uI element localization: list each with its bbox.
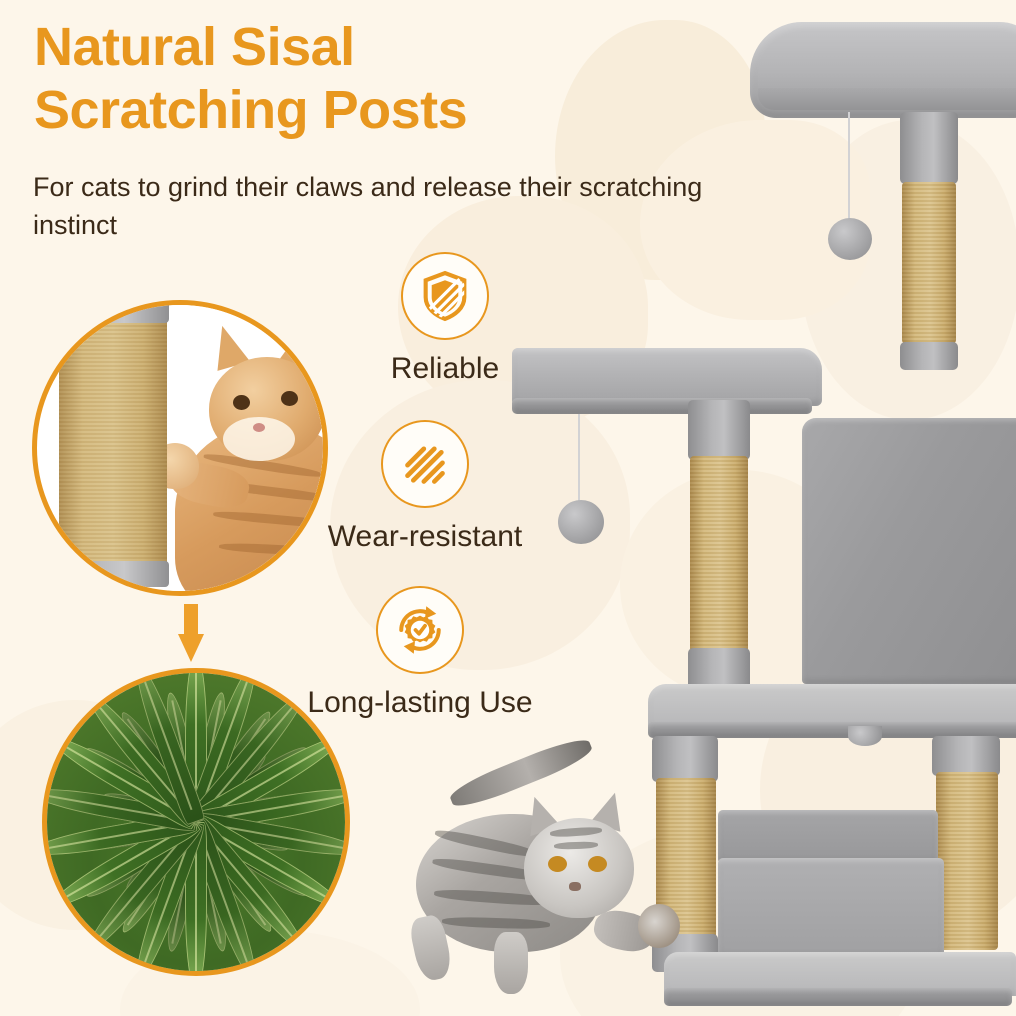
feature-reliable[interactable]: Reliable — [325, 252, 565, 386]
post-collar — [688, 400, 750, 460]
kitten-nose — [569, 882, 581, 891]
feature-label: Reliable — [325, 352, 565, 386]
base-edge — [664, 988, 1012, 1006]
feature-long-lasting-use[interactable]: Long-lasting Use — [300, 586, 540, 720]
feature-label: Long-lasting Use — [300, 686, 540, 720]
infographic-canvas: Natural Sisal Scratching Posts For cats … — [0, 0, 1016, 1016]
post-collar — [932, 736, 1000, 776]
pom-pom-string — [578, 414, 580, 510]
gear-refresh-check-icon — [376, 586, 464, 674]
cat-eye — [233, 395, 250, 410]
post-collar — [900, 342, 958, 370]
arrow-shaft — [184, 604, 198, 638]
page-title: Natural Sisal Scratching Posts — [34, 16, 674, 142]
cat-tree-top-bed-underside — [758, 88, 1016, 110]
pom-pom-ball — [558, 500, 604, 544]
sisal-post-closeup — [59, 300, 167, 596]
arrow-head — [178, 634, 204, 662]
cat-tree-condo-box — [802, 418, 1016, 684]
feature-label: Wear-resistant — [305, 520, 545, 554]
sisal-post — [902, 182, 956, 344]
hatched-stripes-icon — [381, 420, 469, 508]
pom-pom-string — [848, 112, 850, 224]
cat-scratching-sisal-post-photo — [32, 300, 328, 596]
page-subtitle: For cats to grind their claws and releas… — [33, 168, 733, 245]
photo-content — [37, 305, 323, 591]
shelf-knob — [848, 726, 882, 746]
cat-nose — [253, 423, 265, 432]
cat-tree-lower-panel — [718, 858, 944, 958]
shield-icon — [401, 252, 489, 340]
cat-tree-back-panel — [718, 810, 938, 864]
kitten-eye — [588, 856, 607, 872]
sisal-rope-wrap — [59, 317, 167, 565]
platform-edge — [512, 398, 812, 414]
silver-tabby-kitten — [398, 752, 688, 1002]
photo-white-backdrop — [167, 305, 323, 591]
headline-line-2: Scratching Posts — [34, 79, 674, 142]
post-collar — [57, 300, 169, 323]
sisal-post — [690, 456, 748, 652]
kitten-eye — [548, 856, 567, 872]
pom-pom-ball — [828, 218, 872, 260]
post-collar — [57, 561, 169, 587]
kitten-paw — [638, 904, 680, 948]
kitten-leg — [494, 932, 528, 994]
cat-eye — [281, 391, 298, 406]
down-arrow-icon — [178, 604, 204, 662]
post-collar — [900, 112, 958, 184]
headline-line-1: Natural Sisal — [34, 16, 674, 79]
feature-wear-resistant[interactable]: Wear-resistant — [305, 420, 545, 554]
sisal-post — [936, 772, 998, 950]
